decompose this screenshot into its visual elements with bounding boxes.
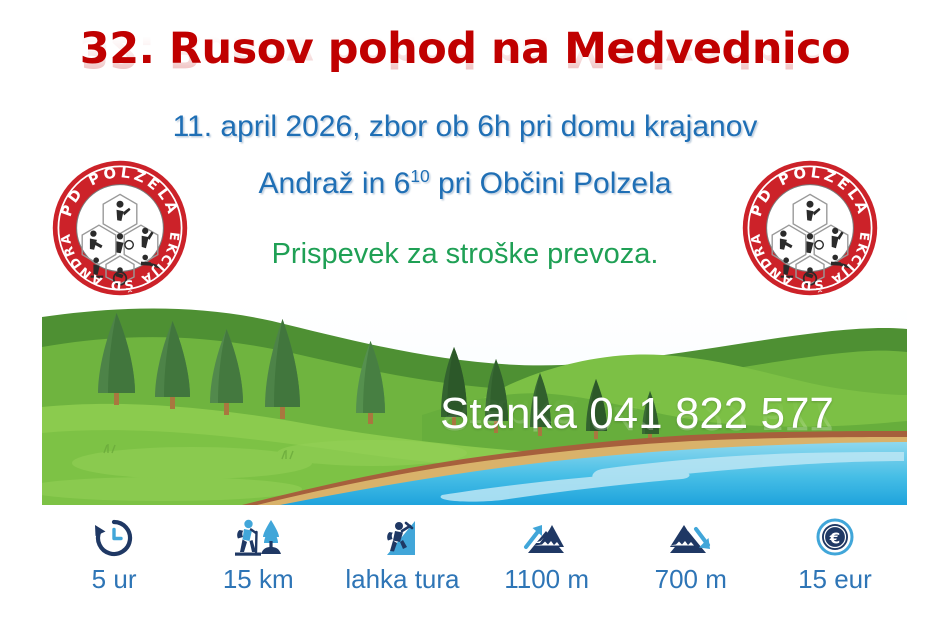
clock-icon (92, 516, 136, 560)
club-badge-icon: PD POLZELA SEKCIJA ŠD ANDRAŽ (740, 158, 880, 298)
stat-distance-label: 15 km (223, 564, 294, 595)
climber-slope-icon (379, 516, 425, 560)
landscape-svg (42, 303, 907, 505)
stat-difficulty-label: lahka tura (345, 564, 459, 595)
page-title: 32. Rusov pohod na Medvednico (0, 28, 930, 71)
mountain-ascent-icon (520, 516, 574, 560)
stat-distance: 15 km (186, 516, 330, 595)
poster-title-block: 32. Rusov pohod na Medvednico 32. Rusov … (0, 28, 930, 115)
euro-coin-icon: € (813, 516, 857, 560)
club-badge-icon: PD POLZELA SEKCIJA ŠD ANDRAŽ (50, 158, 190, 298)
tour-stats-row: 5 ur (42, 516, 907, 606)
stat-price: € 15 eur (763, 516, 907, 595)
stat-ascent-label: 1100 m (504, 564, 589, 595)
poster-canvas: 32. Rusov pohod na Medvednico 32. Rusov … (0, 0, 930, 620)
mountain-descent-icon (664, 516, 718, 560)
club-logo-right: PD POLZELA SEKCIJA ŠD ANDRAŽ (740, 158, 880, 298)
meeting-suffix: pri Občini Polzela (430, 167, 672, 200)
event-date-line: 11. april 2026, zbor ob 6h pri domu kraj… (0, 110, 930, 144)
stat-price-label: 15 eur (798, 564, 872, 595)
stat-descent: 700 m (619, 516, 763, 595)
hiker-tree-icon (231, 516, 285, 560)
stat-difficulty: lahka tura (330, 516, 474, 595)
meeting-superscript: 10 (410, 166, 429, 186)
page-title-reflection: 32. Rusov pohod na Medvednico (0, 29, 930, 72)
stat-duration-label: 5 ur (92, 564, 137, 595)
stat-descent-label: 700 m (655, 564, 727, 595)
meeting-prefix: Andraž in 6 (259, 167, 411, 200)
club-logo-left: PD POLZELA SEKCIJA ŠD ANDRAŽ (50, 158, 190, 298)
stat-ascent: 1100 m (475, 516, 619, 595)
svg-text:€: € (829, 530, 840, 548)
landscape-illustration (42, 303, 907, 505)
stat-duration: 5 ur (42, 516, 186, 595)
